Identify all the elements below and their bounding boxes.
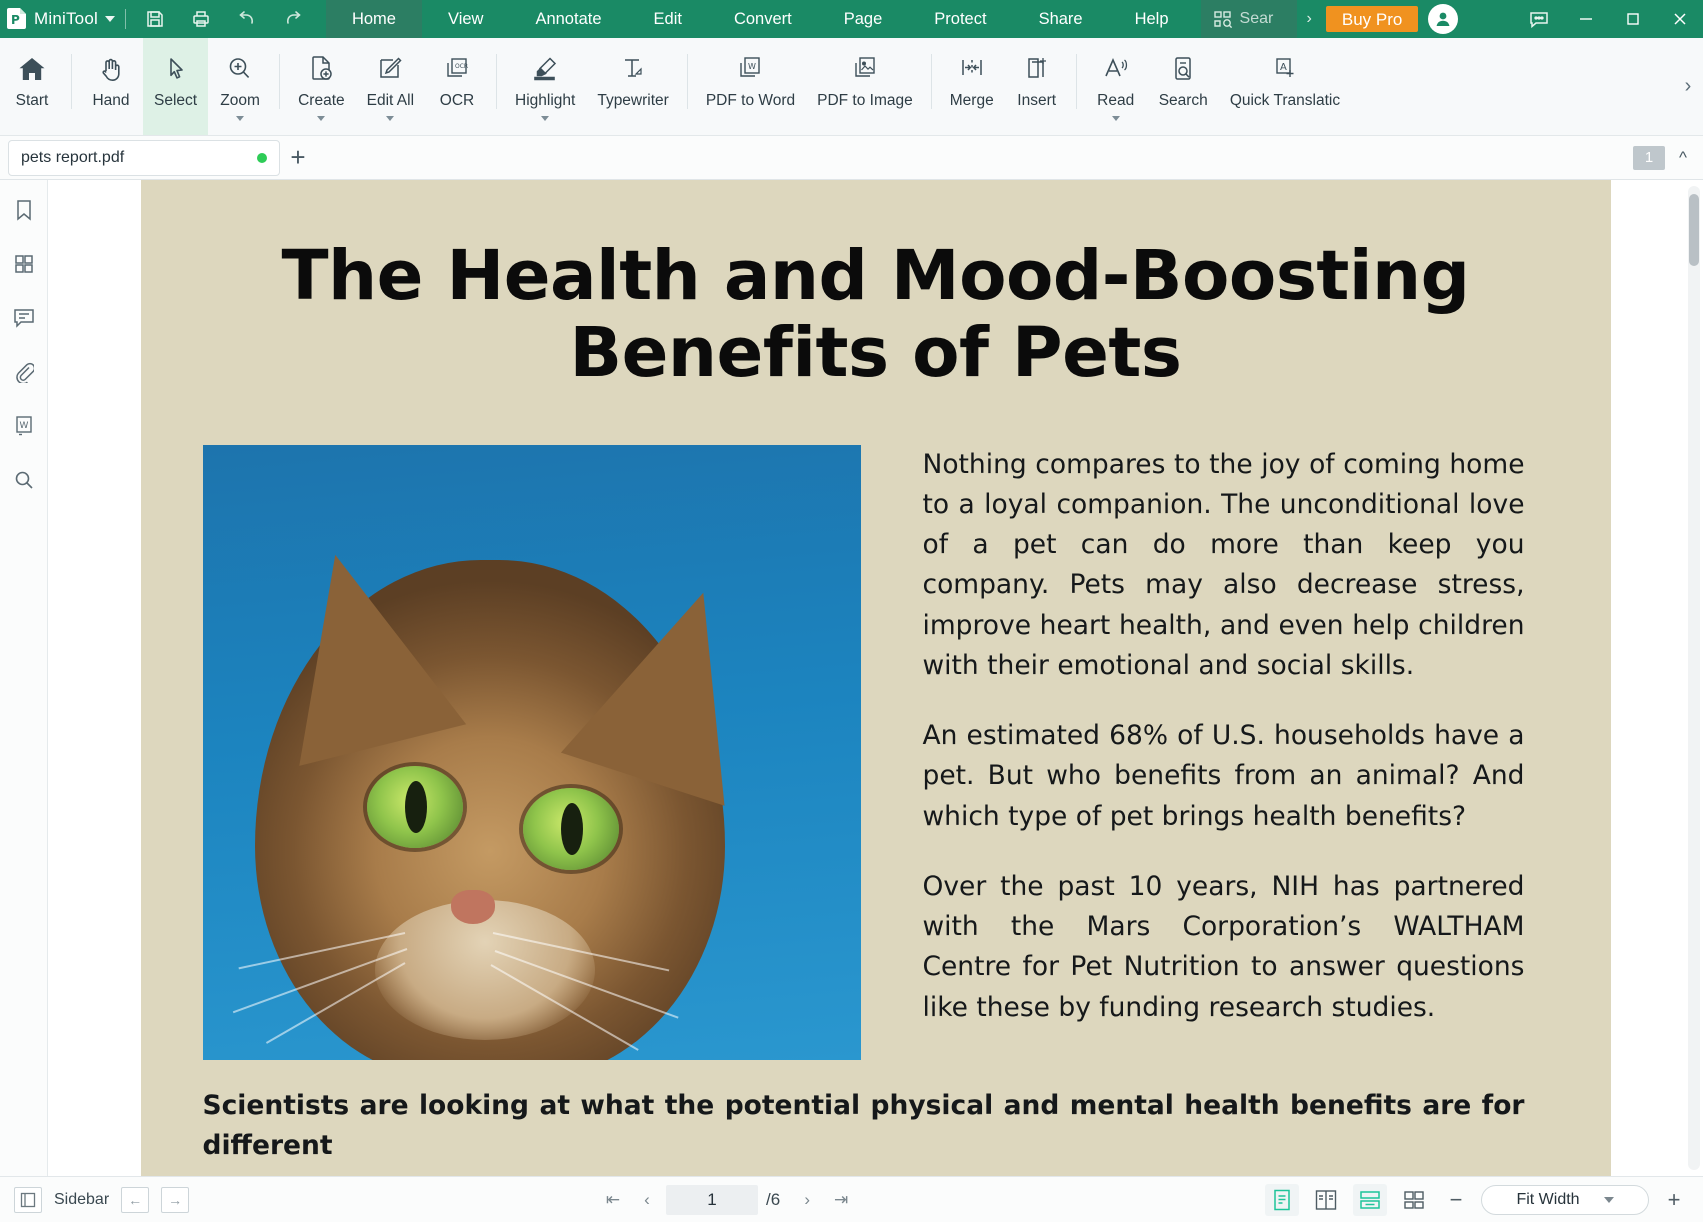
menu-annotate[interactable]: Annotate [509, 0, 627, 38]
ribbon-ocr[interactable]: OCR OCR [425, 38, 489, 135]
quick-translate-icon: A [1270, 48, 1300, 90]
search-placeholder: Sear [1240, 10, 1274, 28]
ribbon-label: Insert [1017, 92, 1056, 110]
divider [931, 54, 932, 109]
svg-text:P: P [11, 13, 20, 27]
cursor-arrow-icon [162, 48, 190, 90]
view-controls: − Fit Width + [1265, 1184, 1689, 1216]
print-icon[interactable] [178, 0, 224, 38]
ribbon-pdf-to-word[interactable]: W PDF to Word [695, 38, 806, 135]
zoom-out-minus-icon[interactable]: − [1441, 1185, 1471, 1215]
two-page-icon[interactable] [1309, 1184, 1343, 1216]
paragraph-3: Over the past 10 years, NIH has partnere… [923, 867, 1525, 1028]
chevron-down-icon[interactable] [541, 116, 549, 121]
unsaved-dot-icon [257, 153, 267, 163]
ribbon-typewriter[interactable]: Typewriter [586, 38, 680, 135]
arrow-right-icon[interactable]: → [161, 1187, 189, 1213]
arrow-left-icon[interactable]: ← [121, 1187, 149, 1213]
ribbon-label: Highlight [515, 92, 575, 110]
ribbon-label: Search [1159, 92, 1208, 110]
chevron-down-icon[interactable] [386, 116, 394, 121]
word-file-icon[interactable]: W [8, 410, 40, 442]
buy-pro-button[interactable]: Buy Pro [1326, 6, 1418, 32]
highlight-icon [530, 48, 560, 90]
edit-all-icon [376, 48, 404, 90]
ribbon-label: Typewriter [597, 92, 669, 110]
ribbon-highlight[interactable]: Highlight [504, 38, 586, 135]
ribbon-label: Read [1097, 92, 1134, 110]
create-pdf-icon [307, 48, 335, 90]
ribbon-zoom[interactable]: Zoom [208, 38, 272, 135]
menu-help[interactable]: Help [1109, 0, 1195, 38]
page-count-badge: 1 [1633, 146, 1665, 170]
menu-view[interactable]: View [422, 0, 509, 38]
next-page-icon[interactable]: › [792, 1186, 822, 1214]
new-tab-plus-icon[interactable]: + [280, 140, 316, 176]
total-pages-label: /6 [766, 1190, 780, 1210]
paragraph-4-cutoff: Scientists are looking at what the poten… [141, 1086, 1611, 1167]
minimize-icon[interactable] [1562, 0, 1609, 38]
brand-label: MiniTool [34, 9, 98, 29]
grid-thumbnails-icon[interactable] [8, 248, 40, 280]
page-body: Nothing compares to the joy of coming ho… [141, 393, 1611, 1060]
divider [279, 54, 280, 109]
paragraph-1: Nothing compares to the joy of coming ho… [923, 445, 1525, 687]
status-left: Sidebar ← → [14, 1187, 189, 1213]
zoom-level-select[interactable]: Fit Width [1481, 1185, 1649, 1215]
read-aloud-icon [1101, 48, 1131, 90]
user-avatar-icon[interactable] [1428, 4, 1458, 34]
sidebar-label: Sidebar [54, 1191, 109, 1209]
ribbon-read[interactable]: Read [1084, 38, 1148, 135]
page-text-column: Nothing compares to the joy of coming ho… [923, 445, 1525, 1060]
svg-text:OCR: OCR [455, 63, 468, 70]
chevron-up-icon[interactable]: ^ [1675, 148, 1691, 168]
ribbon-toolbar: Start Hand Select [0, 38, 1703, 136]
menu-share[interactable]: Share [1013, 0, 1109, 38]
ribbon-quick-translate[interactable]: A Quick Translatic [1219, 38, 1351, 135]
pdf-to-word-icon: W [734, 48, 766, 90]
ribbon-select[interactable]: Select [143, 38, 208, 135]
search-doc-icon [1169, 48, 1197, 90]
ribbon-search[interactable]: Search [1148, 38, 1219, 135]
continuous-scroll-icon[interactable] [1353, 1184, 1387, 1216]
menu-page[interactable]: Page [818, 0, 909, 38]
search-input[interactable]: Sear [1201, 0, 1297, 38]
ribbon-create[interactable]: Create [287, 38, 356, 135]
ribbon-label: Start [16, 92, 49, 110]
menu-edit[interactable]: Edit [628, 0, 708, 38]
document-tab-label: pets report.pdf [21, 149, 249, 167]
sidebar-toggle-icon[interactable] [14, 1187, 42, 1213]
window-controls [1515, 0, 1703, 38]
chat-bubble-icon[interactable] [1515, 0, 1562, 38]
ribbon-label: Hand [92, 92, 129, 110]
chevron-down-icon [1604, 1197, 1614, 1203]
ocr-icon: OCR [442, 48, 472, 90]
ribbon-hand[interactable]: Hand [79, 38, 143, 135]
ribbon-label: Select [154, 92, 197, 110]
current-page-input[interactable] [666, 1185, 758, 1215]
main-area: W The Health and Mood-Boosting Benefits … [0, 180, 1703, 1176]
single-page-icon[interactable] [1265, 1184, 1299, 1216]
divider [1076, 54, 1077, 109]
paragraph-2: An estimated 68% of U.S. households have… [923, 716, 1525, 837]
close-icon[interactable] [1656, 0, 1703, 38]
merge-icon [957, 48, 987, 90]
menu-bar: Home View Annotate Edit Convert Page Pro… [326, 0, 1195, 38]
ribbon-label: PDF to Image [817, 92, 913, 110]
insert-page-icon [1023, 48, 1051, 90]
chevron-down-icon[interactable] [317, 116, 325, 121]
ribbon-label: PDF to Word [706, 92, 795, 110]
divider [496, 54, 497, 109]
save-icon[interactable] [132, 0, 178, 38]
title-bar: P MiniTool Home [0, 0, 1703, 38]
ribbon-label: Quick Translatic [1230, 92, 1340, 110]
first-page-icon[interactable]: ⇤ [598, 1186, 628, 1214]
status-bar: Sidebar ← → ⇤ ‹ /6 › ⇥ [0, 1176, 1703, 1222]
ribbon-merge[interactable]: Merge [939, 38, 1005, 135]
hand-icon [97, 48, 125, 90]
comment-icon[interactable] [8, 302, 40, 334]
grid-view-icon[interactable] [1397, 1184, 1431, 1216]
zoom-level-label: Fit Width [1516, 1191, 1579, 1209]
menu-home[interactable]: Home [326, 0, 422, 38]
paperclip-icon[interactable] [8, 356, 40, 388]
svg-text:A: A [1280, 62, 1287, 73]
cat-photo [203, 445, 861, 1060]
minitool-pdf-logo-icon: P [0, 0, 34, 38]
document-tab-strip: pets report.pdf + 1 ^ [0, 136, 1703, 180]
typewriter-icon [619, 48, 647, 90]
chevron-right-icon[interactable]: › [1297, 0, 1322, 38]
zoom-in-plus-icon[interactable]: + [1659, 1185, 1689, 1215]
divider [125, 9, 126, 29]
tabstrip-right: 1 ^ [1633, 146, 1703, 170]
vertical-scrollbar[interactable] [1688, 186, 1700, 1170]
divider [687, 54, 688, 109]
redo-icon[interactable] [270, 0, 316, 38]
last-page-icon[interactable]: ⇥ [826, 1186, 856, 1214]
chevron-down-icon [105, 16, 115, 22]
ribbon-insert[interactable]: Insert [1005, 38, 1069, 135]
chevron-down-icon[interactable] [236, 116, 244, 121]
ribbon-label: Zoom [220, 92, 260, 110]
pdf-page-1: The Health and Mood-Boosting Benefits of… [141, 180, 1611, 1176]
bookmark-icon[interactable] [8, 194, 40, 226]
document-tab[interactable]: pets report.pdf [8, 140, 280, 176]
app-window: P MiniTool Home [0, 0, 1703, 1222]
ribbon-label: Create [298, 92, 345, 110]
maximize-icon[interactable] [1609, 0, 1656, 38]
menu-convert[interactable]: Convert [708, 0, 818, 38]
chevron-down-icon[interactable] [1112, 116, 1120, 121]
ribbon-overflow-chevron-right-icon[interactable]: › [1673, 38, 1703, 135]
ribbon-label: Merge [950, 92, 994, 110]
zoom-in-icon [226, 48, 254, 90]
svg-text:W: W [19, 421, 28, 431]
ribbon-pdf-to-image[interactable]: PDF to Image [806, 38, 924, 135]
page-navigation: ⇤ ‹ /6 › ⇥ [598, 1185, 856, 1215]
pdf-to-image-icon [849, 48, 881, 90]
home-icon [17, 48, 47, 90]
divider [71, 54, 72, 109]
menu-protect[interactable]: Protect [908, 0, 1012, 38]
svg-text:W: W [748, 62, 756, 71]
left-rail: W [0, 180, 48, 1176]
search-box-icon [1213, 10, 1233, 28]
undo-icon[interactable] [224, 0, 270, 38]
ribbon-label: OCR [440, 92, 474, 110]
ribbon-start[interactable]: Start [0, 38, 64, 135]
magnifier-icon[interactable] [8, 464, 40, 496]
pdf-viewer[interactable]: The Health and Mood-Boosting Benefits of… [48, 180, 1703, 1176]
ribbon-label: Edit All [367, 92, 414, 110]
ribbon-edit-all[interactable]: Edit All [356, 38, 425, 135]
scrollbar-thumb[interactable] [1689, 194, 1699, 266]
prev-page-icon[interactable]: ‹ [632, 1186, 662, 1214]
page-title: The Health and Mood-Boosting Benefits of… [141, 238, 1611, 393]
brand-menu[interactable]: MiniTool [34, 0, 123, 38]
